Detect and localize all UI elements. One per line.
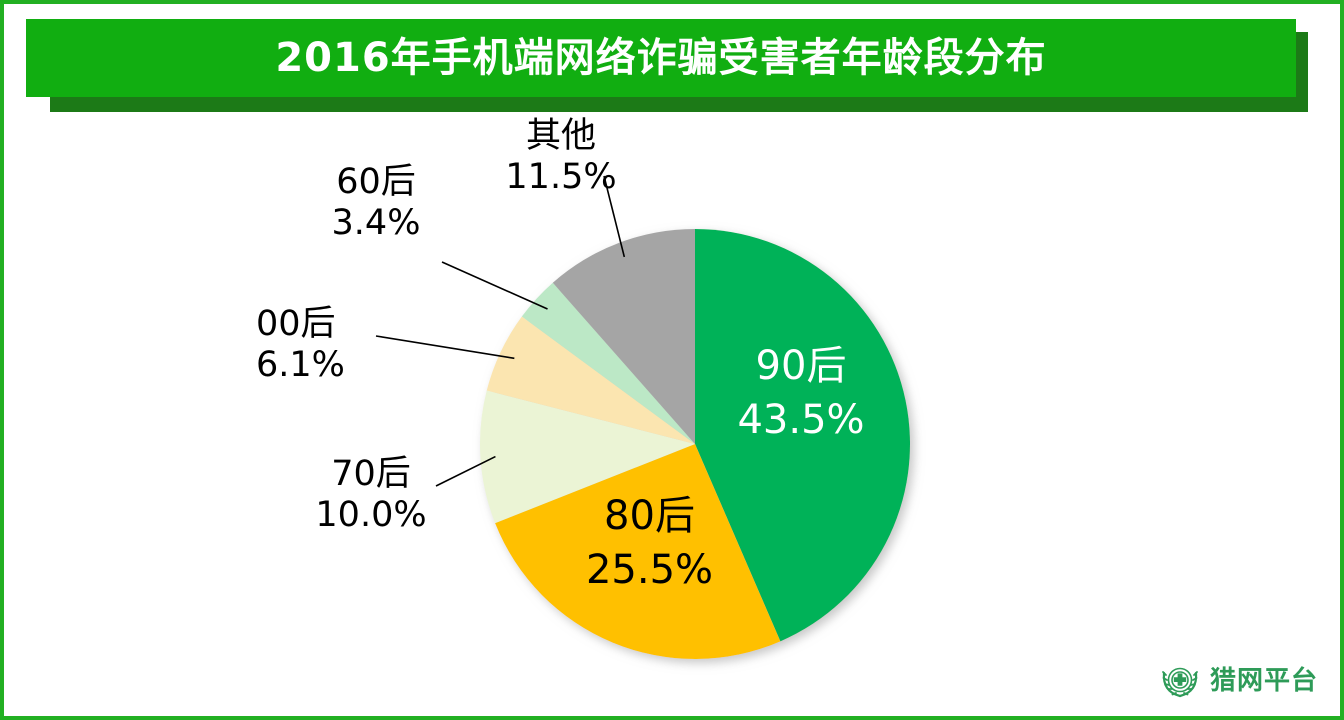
slice-label-90s-value: 43.5% <box>676 393 926 447</box>
leader-line <box>442 262 548 309</box>
slice-label-70s: 70后 10.0% <box>276 454 466 537</box>
slice-label-other: 其他 11.5% <box>456 116 666 199</box>
slice-label-70s-name: 70后 <box>276 454 466 495</box>
slice-label-other-name: 其他 <box>456 116 666 157</box>
slice-label-00s-value: 6.1% <box>256 345 436 386</box>
brand-logo-text: 猎网平台 <box>1210 668 1318 694</box>
slice-label-60s-name: 60后 <box>286 162 466 203</box>
slice-label-80s: 80后 25.5% <box>537 489 762 597</box>
slice-label-90s: 90后 43.5% <box>676 339 926 447</box>
slice-label-00s: 00后 6.1% <box>256 304 436 387</box>
slice-label-60s: 60后 3.4% <box>286 162 466 245</box>
pie-chart-svg <box>4 104 1344 720</box>
slice-label-80s-value: 25.5% <box>537 543 762 597</box>
shield-cross-laurel-icon <box>1159 660 1201 702</box>
slice-label-00s-name: 00后 <box>256 304 436 345</box>
brand-logo: 猎网平台 <box>1159 660 1318 702</box>
page-title: 2016年手机端网络诈骗受害者年龄段分布 <box>275 38 1046 78</box>
slice-label-other-value: 11.5% <box>456 157 666 198</box>
slice-label-70s-value: 10.0% <box>276 495 466 536</box>
title-banner: 2016年手机端网络诈骗受害者年龄段分布 <box>26 19 1296 97</box>
pie-chart: 其他 11.5% 60后 3.4% 00后 6.1% 70后 10.0% 90后… <box>4 104 1344 720</box>
slice-label-60s-value: 3.4% <box>286 203 466 244</box>
poster-canvas: 2016年手机端网络诈骗受害者年龄段分布 其他 11.5% 60后 3.4% 0… <box>0 0 1344 720</box>
slice-label-90s-name: 90后 <box>676 339 926 393</box>
slice-label-80s-name: 80后 <box>537 489 762 543</box>
